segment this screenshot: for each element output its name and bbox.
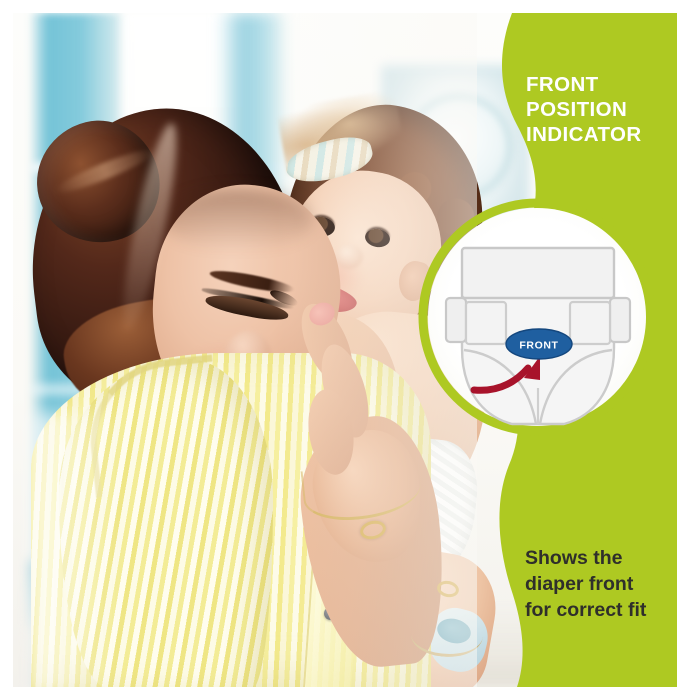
mother-shirt-highlight bbox=[31, 413, 121, 687]
diaper-waistband bbox=[462, 248, 614, 298]
title-line-2: POSITION bbox=[526, 97, 676, 122]
diaper-left-fastening-tab bbox=[446, 298, 466, 342]
banner-canvas: FRONT POSITION INDICATOR bbox=[0, 0, 690, 700]
diaper-right-fastening-tab bbox=[610, 298, 630, 342]
baby-nose bbox=[335, 245, 363, 269]
banner-inner-frame: FRONT POSITION INDICATOR bbox=[13, 13, 677, 687]
diaper-illustration: FRONT bbox=[446, 248, 630, 424]
front-badge-label: FRONT bbox=[519, 340, 558, 352]
front-position-indicator-diagram: FRONT bbox=[418, 198, 656, 436]
caption-line-3: for correct fit bbox=[525, 597, 677, 623]
mother-forehead-shadow bbox=[163, 189, 313, 251]
page-title: FRONT POSITION INDICATOR bbox=[526, 72, 676, 147]
caption-line-2: diaper front bbox=[525, 571, 677, 597]
feature-caption: Shows the diaper front for correct fit bbox=[525, 545, 677, 623]
caption-line-1: Shows the bbox=[525, 545, 677, 571]
title-line-1: FRONT bbox=[526, 72, 676, 97]
diaper-left-inner-panel bbox=[466, 302, 506, 344]
title-line-3: INDICATOR bbox=[526, 122, 676, 147]
diaper-right-inner-panel bbox=[570, 302, 610, 344]
